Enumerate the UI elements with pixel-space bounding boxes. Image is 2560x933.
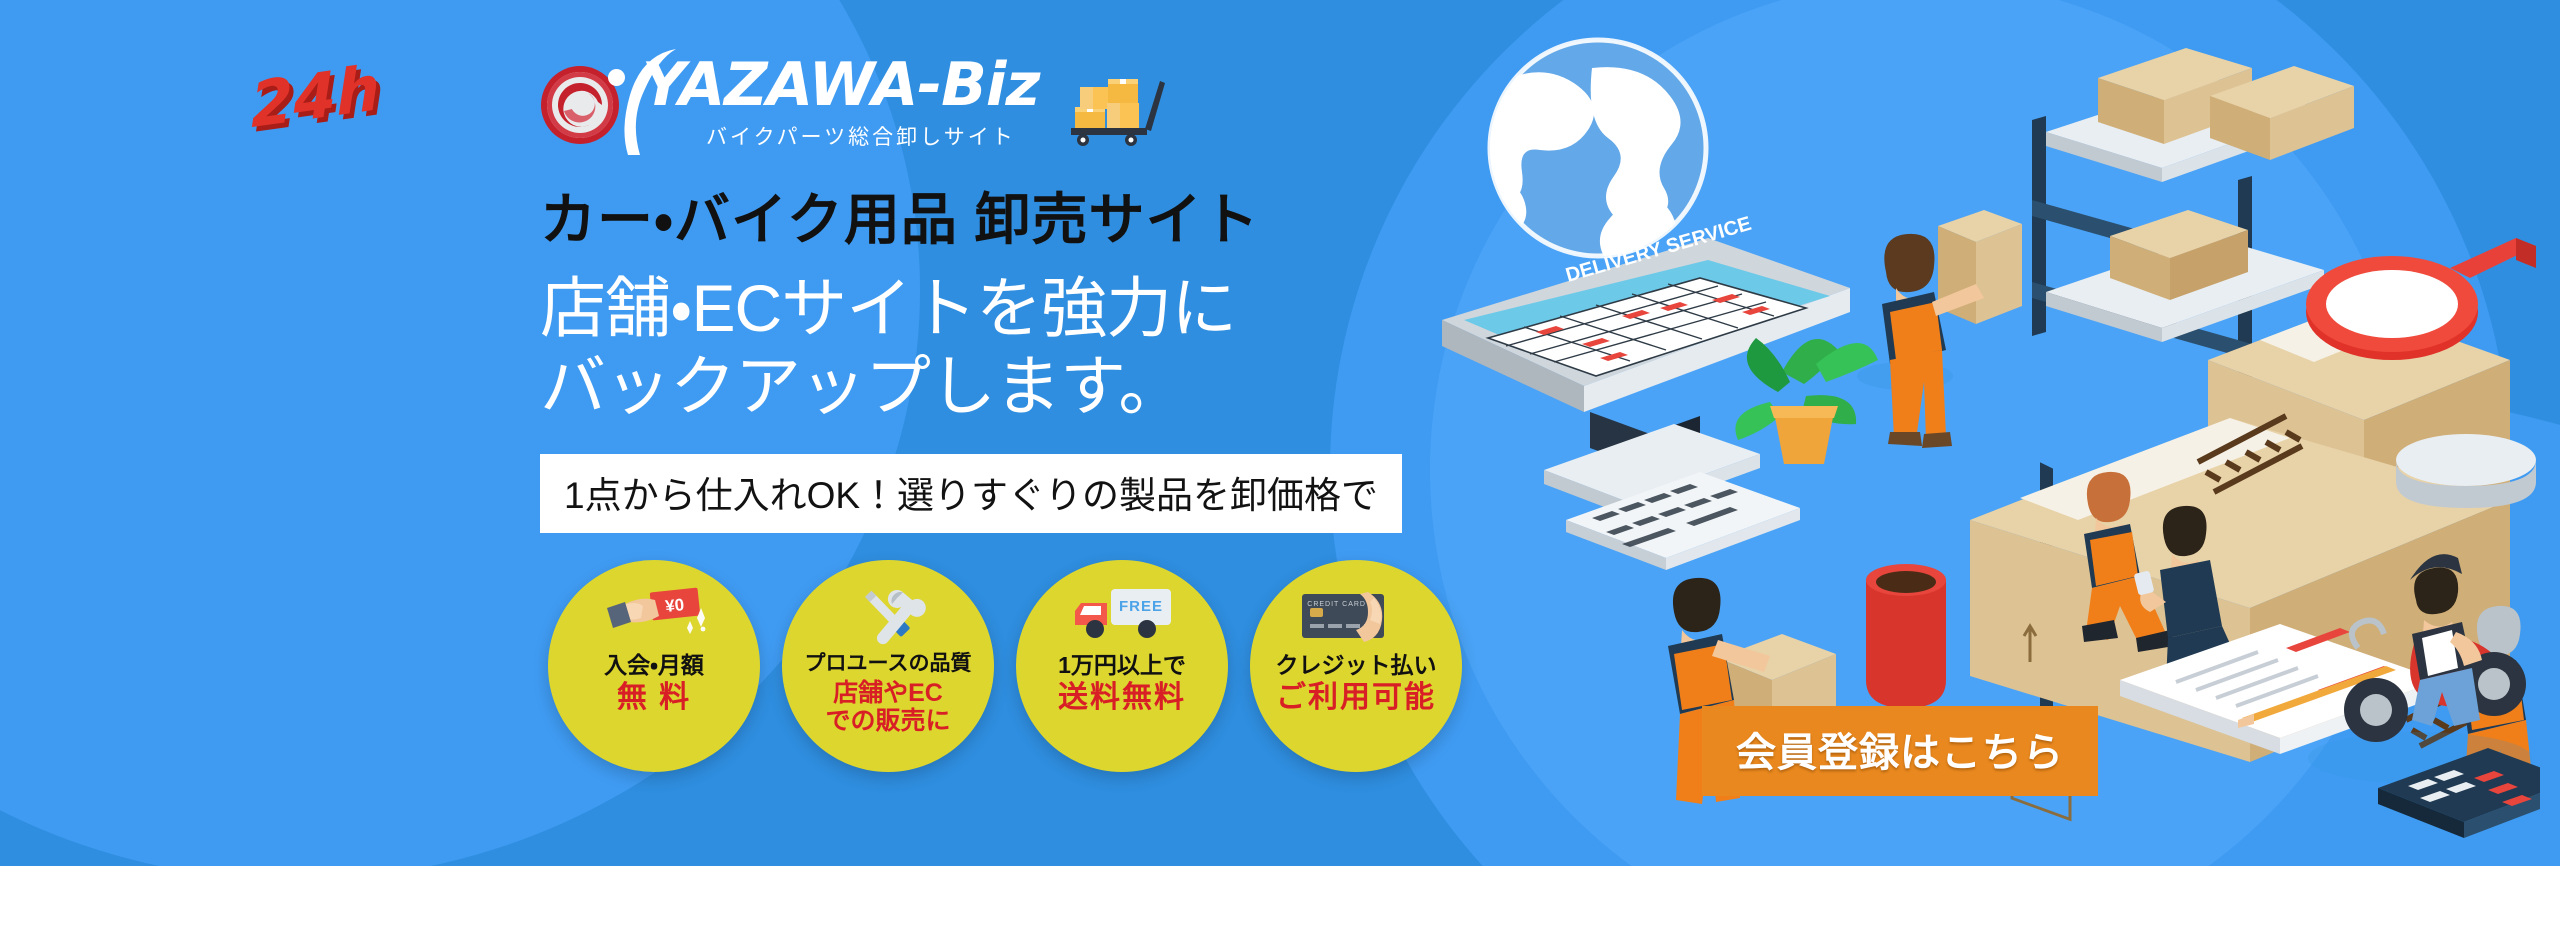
headline-white: 店舗・ECサイトを強力に バックアップします。 [540,270,1640,426]
worker-carrying-box [1857,210,2022,448]
register-member-button[interactable]: 会員登録はこちら [1702,706,2098,796]
potted-plant [1735,338,1878,464]
feature-badge-membership-free[interactable]: ¥0 入会・月額 無 料 [548,560,760,772]
feature-badge-free-shipping[interactable]: FREE 1万円以上で 送料無料 [1016,560,1228,772]
svg-text:¥0: ¥0 [664,595,685,616]
hero-copy-column: YAZAWA-Biz バイクパーツ総合卸しサイト [540,46,1640,533]
hero-banner: DELIVERY SERVICE [0,0,2560,866]
svg-text:CREDIT CARD: CREDIT CARD [1307,601,1366,608]
feature-badge-sub: ご利用可能 [1276,681,1436,715]
brand-swoosh-icon [612,45,682,155]
coffee-cup [1866,564,1946,708]
brand-subtitle: バイクパーツ総合卸しサイト [706,121,1039,151]
brand-dot-icon [608,69,625,86]
svg-text:FREE: FREE [1119,598,1163,615]
tagline-bar: 1点から仕入れOK！選りすぐりの製品を卸価格で [540,454,1402,533]
feature-badge-sub: 店舗やEC での販売に [825,679,950,735]
page-bottom-white-area [0,866,2560,933]
feature-badge-sub-line-2: での販売に [825,707,950,735]
feature-badge-title: プロユースの品質 [805,652,972,676]
feature-badge-sub: 無 料 [617,681,691,715]
brand-wordmark-block: YAZAWA-Biz バイクパーツ総合卸しサイト [638,55,1039,151]
feature-badge-sub-line-1: 店舗やEC [825,679,950,707]
wrench-screwdriver-icon [849,584,927,646]
brand-logo-row[interactable]: YAZAWA-Biz バイクパーツ総合卸しサイト [540,46,1640,151]
white-platform-disc [2396,434,2536,508]
free-delivery-truck-icon: FREE [1067,584,1177,646]
badge-24h-label: 24h [249,51,381,143]
feature-badge-pro-quality[interactable]: プロユースの品質 店舗やEC での販売に [782,560,994,772]
headline-white-line-1: 店舗・ECサイトを強力に [540,270,1640,348]
feature-badge-title: クレジット払い [1276,652,1437,678]
hand-holding-credit-card-icon: CREDIT CARD [1296,584,1416,646]
hand-cart-with-boxes-icon [1065,65,1183,147]
feature-badge-title: 入会・月額 [604,652,704,678]
hand-holding-zero-yen-card-icon: ¥0 [599,584,709,646]
magnifying-glass-icon [2306,238,2536,360]
feature-badge-credit-card[interactable]: CREDIT CARD クレジット払い ご利用可能 [1250,560,1462,772]
feature-badge-sub: 送料無料 [1058,681,1186,715]
brand-wordmark: YAZAWA-Biz [642,55,1039,115]
register-member-button-label: 会員登録はこちら [1736,720,2064,778]
headline-black: カー・バイク用品 卸売サイト [540,175,1640,256]
headline-white-line-2: バックアップします。 [540,348,1640,426]
feature-badge-group: ¥0 入会・月額 無 料 [548,560,1462,772]
feature-badge-title: 1万円以上で [1058,652,1186,678]
